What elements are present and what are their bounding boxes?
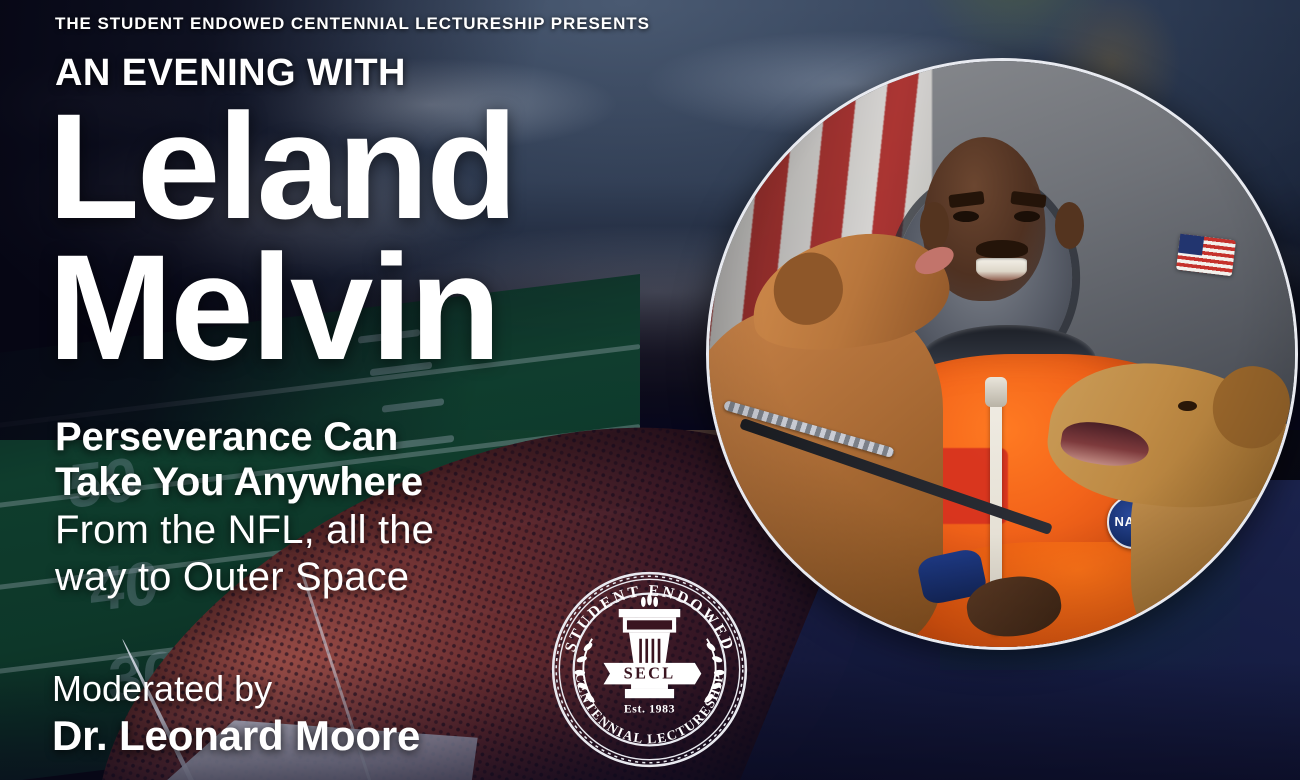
speaker-first-name: Leland [48,96,515,237]
secl-seal-logo: STUDENT ENDOWED CENTENNIAL LECTURESHIP [547,567,752,772]
presenter-kicker: THE STUDENT ENDOWED CENTENNIAL LECTURESH… [55,14,650,34]
talk-title-line-2: Take You Anywhere [55,460,434,505]
seal-banner: SECL [604,663,700,684]
speaker-last-name: Melvin [48,237,515,378]
moderator-label: Moderated by [52,668,420,710]
talk-subtitle-line-2: way to Outer Space [55,555,434,600]
speaker-photo: NASA [706,58,1298,650]
talk-subtitle-line-1: From the NFL, all the [55,508,434,553]
speaker-name: Leland Melvin [48,96,515,378]
poster-canvas: 50 40 30 [0,0,1300,780]
seal-banner-text: SECL [624,664,676,683]
moderator-name: Dr. Leonard Moore [52,712,420,761]
moderator-block: Moderated by Dr. Leonard Moore [52,668,420,760]
talk-title-block: Perseverance Can Take You Anywhere From … [55,415,434,600]
us-flag-patch-icon [1176,234,1236,277]
seal-established-text: Est. 1983 [624,703,675,716]
talk-title-line-1: Perseverance Can [55,415,434,460]
